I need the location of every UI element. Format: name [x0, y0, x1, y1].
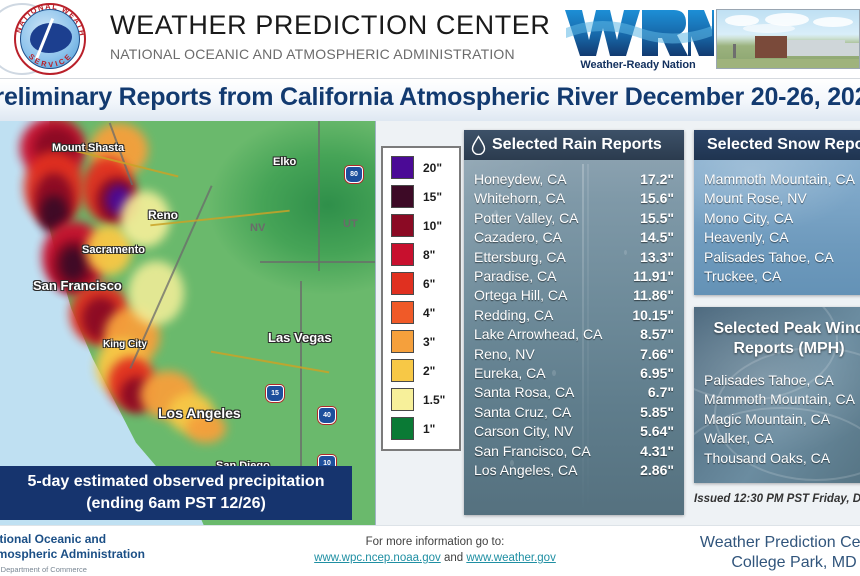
- graphic-body: Mount Shasta Elko Reno Sacramento San Fr…: [0, 121, 860, 525]
- snow-report-row: Mount Rose, NV: [694, 189, 860, 208]
- wpc-title: WEATHER PREDICTION CENTER: [110, 8, 550, 42]
- snow-report-row: Truckee, CA: [694, 267, 860, 286]
- snow-report-row: Mono City, CA: [694, 209, 860, 228]
- report-value: 8.57": [640, 325, 674, 344]
- map-label: Elko: [273, 156, 296, 168]
- legend-row: 4": [383, 298, 459, 327]
- wind-report-row: Palisades Tahoe, CA: [694, 371, 860, 390]
- page-title: Preliminary Reports from California Atmo…: [0, 83, 860, 112]
- wind-report-row: Magic Mountain, CA: [694, 410, 860, 429]
- map-state-label: UT: [343, 218, 358, 230]
- state-border: [260, 261, 376, 263]
- selected-peak-wind-reports-panel: Selected Peak Wind Reports (MPH) Palisad…: [694, 307, 860, 483]
- report-place: Truckee, CA: [704, 267, 781, 286]
- legend-swatch: [391, 330, 414, 353]
- rain-panel-title: Selected Rain Reports: [492, 136, 662, 154]
- report-place: Santa Cruz, CA: [474, 403, 571, 422]
- rain-report-row: Whitehorn, CA 15.6": [464, 189, 684, 208]
- footer-noaa-line-2: Atmospheric Administration: [0, 547, 145, 562]
- precipitation-map[interactable]: Mount Shasta Elko Reno Sacramento San Fr…: [0, 121, 376, 525]
- water-drop-icon: [471, 135, 486, 155]
- rain-report-row: Los Angeles, CA 2.86": [464, 461, 684, 480]
- rain-report-list: Honeydew, CA 17.2" Whitehorn, CA 15.6" P…: [464, 160, 684, 481]
- footer-wpc-block: Weather Prediction Center College Park, …: [694, 533, 860, 573]
- report-place: Reno, NV: [474, 345, 535, 364]
- rain-report-row: Lake Arrowhead, CA 8.57": [464, 325, 684, 344]
- rain-report-row: Redding, CA 10.15": [464, 306, 684, 325]
- legend-label: 10": [423, 219, 442, 233]
- legend-label: 2": [423, 364, 435, 378]
- footer-and-text: and: [441, 552, 467, 564]
- precipitation-legend: 20" 15" 10" 8" 6" 4" 3" 2": [381, 146, 461, 451]
- highway-shield-icon: 40: [318, 407, 336, 424]
- snow-panel-title: Selected Snow Reports: [707, 136, 860, 154]
- report-value: 5.85": [640, 403, 674, 422]
- state-border: [300, 281, 302, 481]
- snow-report-row: Palisades Tahoe, CA: [694, 248, 860, 267]
- report-value: 10.15": [632, 306, 674, 325]
- legend-label: 1": [423, 422, 435, 436]
- main-title-bar: Preliminary Reports from California Atmo…: [0, 79, 860, 122]
- map-label: Los Angeles: [158, 405, 241, 421]
- wind-title-line-1: Selected Peak Wind: [694, 319, 860, 339]
- legend-swatch: [391, 417, 414, 440]
- legend-label: 4": [423, 306, 435, 320]
- snow-report-row: Heavenly, CA: [694, 228, 860, 247]
- state-border: [318, 121, 320, 271]
- report-place: Ortega Hill, CA: [474, 286, 567, 305]
- report-place: Los Angeles, CA: [474, 461, 578, 480]
- report-place: Mono City, CA: [704, 209, 793, 228]
- seal-ring-text: NATIONAL WEATHER SERVICE: [14, 3, 86, 75]
- rain-report-row: Santa Rosa, CA 6.7": [464, 383, 684, 402]
- map-label: Sacramento: [82, 244, 145, 256]
- legend-label: 6": [423, 277, 435, 291]
- legend-label: 20": [423, 161, 442, 175]
- rain-report-row: Ettersburg, CA 13.3": [464, 248, 684, 267]
- rain-report-row: San Francisco, CA 4.31": [464, 442, 684, 461]
- legend-swatch: [391, 243, 414, 266]
- report-place: San Francisco, CA: [474, 442, 591, 461]
- footer-noaa-block: National Oceanic and Atmospheric Adminis…: [0, 532, 145, 576]
- rain-report-row: Honeydew, CA 17.2": [464, 170, 684, 189]
- report-value: 15.5": [640, 209, 674, 228]
- noaa-subtitle: NATIONAL OCEANIC AND ATMOSPHERIC ADMINIS…: [110, 44, 550, 64]
- caption-line-1: 5-day estimated observed precipitation: [28, 471, 325, 493]
- precip-band: [128, 261, 184, 325]
- report-value: 13.3": [640, 248, 674, 267]
- selected-rain-reports-panel: Selected Rain Reports Honeydew, CA 17.2"…: [464, 130, 684, 515]
- report-value: 5.64": [640, 422, 674, 441]
- snow-panel-header: Selected Snow Reports: [694, 130, 860, 160]
- report-place: Carson City, NV: [474, 422, 573, 441]
- legend-row: 2": [383, 356, 459, 385]
- report-place: Palisades Tahoe, CA: [704, 248, 834, 267]
- report-place: Ettersburg, CA: [474, 248, 566, 267]
- report-value: 6.7": [648, 383, 674, 402]
- legend-swatch: [391, 156, 414, 179]
- report-value: 6.95": [640, 364, 674, 383]
- report-place: Heavenly, CA: [704, 228, 789, 247]
- report-place: Mammoth Mountain, CA: [704, 390, 855, 409]
- legend-label: 3": [423, 335, 435, 349]
- report-value: 11.86": [633, 286, 674, 305]
- report-value: 7.66": [640, 345, 674, 364]
- legend-row: 20": [383, 153, 459, 182]
- report-place: Thousand Oaks, CA: [704, 449, 830, 468]
- seal-text-top: NATIONAL WEATHER: [14, 3, 86, 38]
- report-value: 15.6": [640, 189, 674, 208]
- report-value: 14.5": [640, 228, 674, 247]
- wrn-tagline: Weather-Ready Nation: [562, 59, 714, 71]
- highway-shield-icon: 15: [266, 385, 284, 402]
- rain-report-row: Eureka, CA 6.95": [464, 364, 684, 383]
- report-value: 11.91": [633, 267, 674, 286]
- highway-shield-icon: 80: [345, 166, 363, 183]
- legend-swatch: [391, 388, 414, 411]
- wpc-building-photo: [716, 9, 860, 69]
- wind-report-row: Mammoth Mountain, CA: [694, 390, 860, 409]
- legend-swatch: [391, 214, 414, 237]
- legend-swatch: [391, 272, 414, 295]
- wpc-link[interactable]: www.wpc.ncep.noaa.gov: [314, 552, 441, 564]
- report-place: Santa Rosa, CA: [474, 383, 574, 402]
- nws-seal-logo: NATIONAL WEATHER SERVICE: [0, 2, 104, 76]
- report-place: Lake Arrowhead, CA: [474, 325, 602, 344]
- footer-info-block: For more information go to: www.wpc.ncep…: [300, 535, 570, 566]
- report-place: Honeydew, CA: [474, 170, 567, 189]
- report-place: Walker, CA: [704, 429, 774, 448]
- footer-noaa-line-1: National Oceanic and: [0, 532, 145, 547]
- header-title-block: WEATHER PREDICTION CENTER NATIONAL OCEAN…: [110, 8, 550, 64]
- rain-panel-header: Selected Rain Reports: [464, 130, 684, 160]
- rain-report-row: Paradise, CA 11.91": [464, 267, 684, 286]
- footer-links: www.wpc.ncep.noaa.gov and www.weather.go…: [300, 550, 570, 566]
- snow-report-list: Mammoth Mountain, CA Mount Rose, NV Mono…: [694, 160, 860, 286]
- rain-report-row: Reno, NV 7.66": [464, 345, 684, 364]
- report-place: Mount Rose, NV: [704, 189, 807, 208]
- footer-info-label: For more information go to:: [300, 535, 570, 550]
- wind-panel-title: Selected Peak Wind Reports (MPH): [694, 307, 860, 359]
- wind-title-line-2: Reports (MPH): [694, 339, 860, 359]
- report-place: Paradise, CA: [474, 267, 556, 286]
- legend-swatch: [391, 301, 414, 324]
- map-state-label: NV: [250, 222, 265, 234]
- report-place: Redding, CA: [474, 306, 553, 325]
- legend-row: 6": [383, 269, 459, 298]
- rain-report-row: Cazadero, CA 14.5": [464, 228, 684, 247]
- map-label: San Francisco: [33, 278, 122, 293]
- snow-report-row: Mammoth Mountain, CA: [694, 170, 860, 189]
- rain-report-row: Ortega Hill, CA 11.86": [464, 286, 684, 305]
- report-value: 2.86": [640, 461, 674, 480]
- wrn-wordmark-icon: [562, 6, 714, 58]
- report-place: Eureka, CA: [474, 364, 546, 383]
- footer-doc-line: U.S. Department of Commerce: [0, 564, 145, 576]
- selected-snow-reports-panel: Selected Snow Reports Mammoth Mountain, …: [694, 130, 860, 295]
- legend-swatch: [391, 185, 414, 208]
- legend-row: 15": [383, 182, 459, 211]
- legend-row: 1.5": [383, 385, 459, 414]
- wind-report-row: Thousand Oaks, CA: [694, 449, 860, 468]
- rain-report-row: Carson City, NV 5.64": [464, 422, 684, 441]
- legend-row: 3": [383, 327, 459, 356]
- map-label: Reno: [148, 208, 178, 222]
- wind-report-list: Palisades Tahoe, CA Mammoth Mountain, CA…: [694, 359, 860, 468]
- report-place: Potter Valley, CA: [474, 209, 579, 228]
- legend-row: 8": [383, 240, 459, 269]
- report-value: 4.31": [640, 442, 674, 461]
- legend-label: 15": [423, 190, 442, 204]
- report-place: Palisades Tahoe, CA: [704, 371, 834, 390]
- page-header: NATIONAL WEATHER SERVICE WEATHER PREDICT…: [0, 0, 860, 79]
- wind-report-row: Walker, CA: [694, 429, 860, 448]
- legend-row: 1": [383, 414, 459, 443]
- report-value: 17.2": [640, 170, 674, 189]
- caption-line-2: (ending 6am PST 12/26): [86, 493, 266, 515]
- svg-text:NATIONAL WEATHER: NATIONAL WEATHER: [14, 3, 86, 38]
- report-place: Magic Mountain, CA: [704, 410, 830, 429]
- legend-row: 10": [383, 211, 459, 240]
- report-place: Cazadero, CA: [474, 228, 562, 247]
- legend-label: 1.5": [423, 393, 445, 407]
- weather-gov-link[interactable]: www.weather.gov: [466, 552, 556, 564]
- legend-label: 8": [423, 248, 435, 262]
- rain-report-row: Potter Valley, CA 15.5": [464, 209, 684, 228]
- map-label: Mount Shasta: [52, 142, 124, 154]
- page-footer: National Oceanic and Atmospheric Adminis…: [0, 525, 860, 574]
- map-caption: 5-day estimated observed precipitation (…: [0, 466, 352, 520]
- footer-wpc-line-1: Weather Prediction Center: [694, 533, 860, 553]
- weather-ready-nation-logo: Weather-Ready Nation: [562, 6, 714, 72]
- report-place: Mammoth Mountain, CA: [704, 170, 855, 189]
- issued-timestamp: Issued 12:30 PM PST Friday, December 24: [694, 493, 860, 505]
- legend-swatch: [391, 359, 414, 382]
- rain-report-row: Santa Cruz, CA 5.85": [464, 403, 684, 422]
- svg-text:SERVICE: SERVICE: [27, 51, 74, 69]
- footer-wpc-line-2: College Park, MD: [694, 553, 860, 573]
- map-label: Las Vegas: [268, 330, 332, 345]
- map-label: King City: [103, 339, 147, 350]
- seal-text-bottom: SERVICE: [27, 51, 74, 69]
- report-place: Whitehorn, CA: [474, 189, 565, 208]
